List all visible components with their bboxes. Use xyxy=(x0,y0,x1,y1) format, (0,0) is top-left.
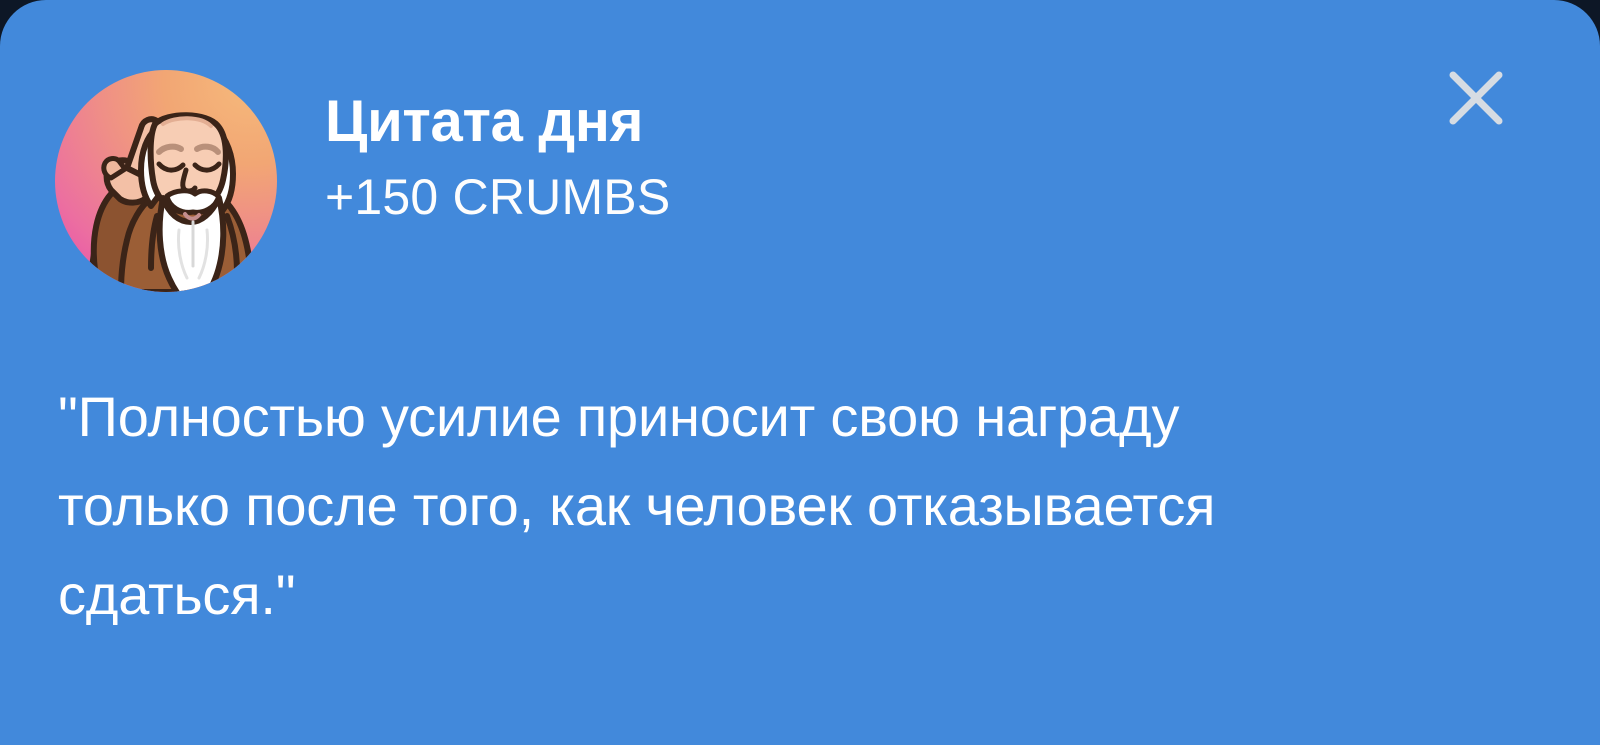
quote-line: только после того, как человек отказывае… xyxy=(58,461,1458,550)
quote-text: "Полностью усилие приносит свою награду … xyxy=(58,372,1458,639)
header-text-block: Цитата дня +150 CRUMBS xyxy=(325,70,670,223)
close-button[interactable] xyxy=(1440,62,1512,134)
close-icon xyxy=(1447,69,1505,127)
quote-line: "Полностью усилие приносит свою награду xyxy=(58,372,1458,461)
card-header: Цитата дня +150 CRUMBS xyxy=(55,70,670,292)
page-title: Цитата дня xyxy=(325,92,670,153)
reward-amount: +150 CRUMBS xyxy=(325,171,670,224)
wise-old-man-avatar xyxy=(55,70,277,292)
quote-line: сдаться." xyxy=(58,550,1458,639)
quote-of-the-day-card: Цитата дня +150 CRUMBS "Полностью усилие… xyxy=(0,0,1600,745)
